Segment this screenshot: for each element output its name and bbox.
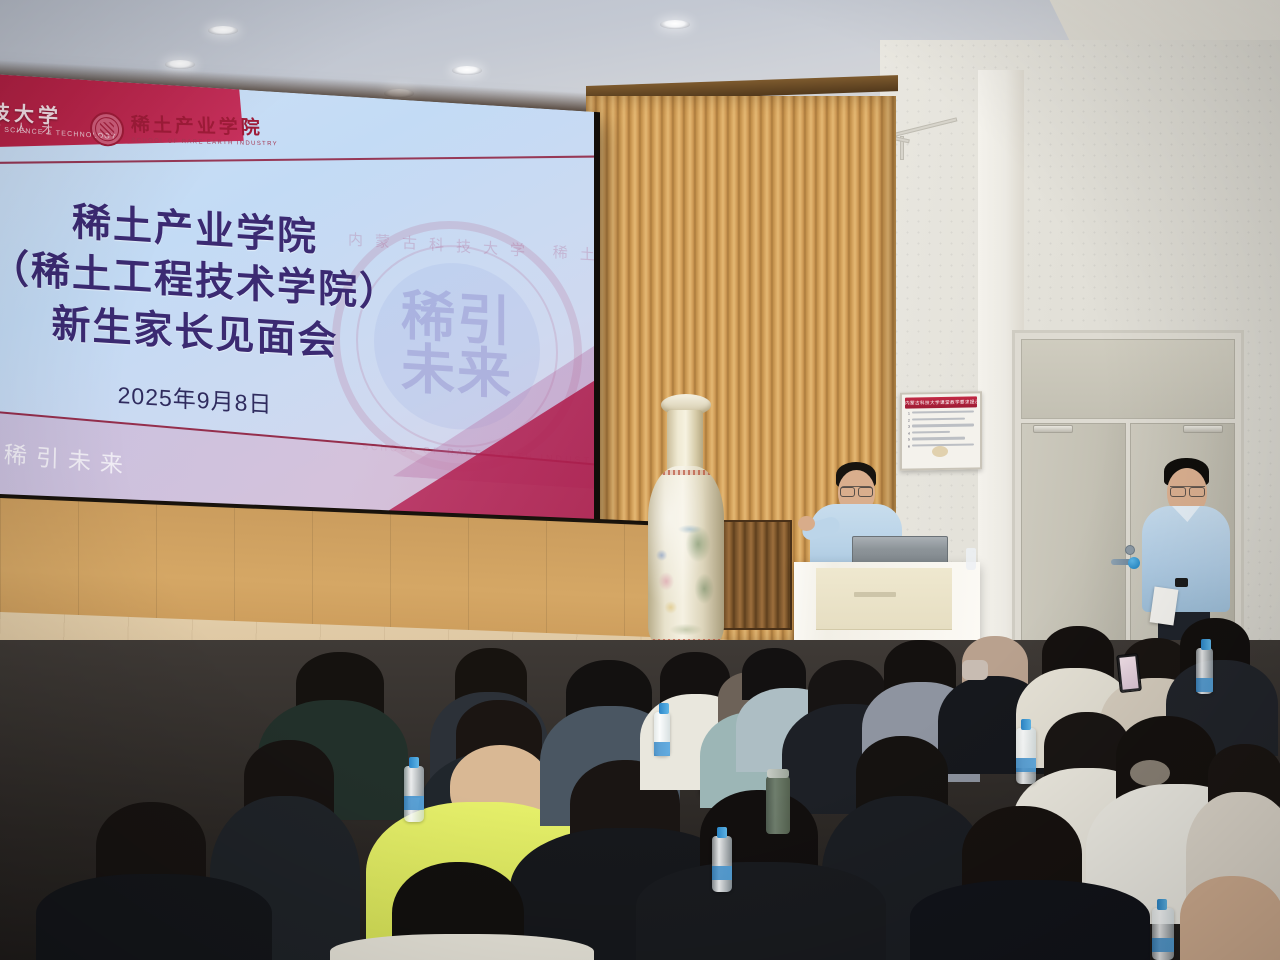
water-bottle[interactable]: [712, 836, 732, 892]
notice-item-text: [912, 410, 974, 413]
ceiling-downlight: [452, 66, 482, 75]
audience-face-mask: [962, 660, 988, 680]
ceiling-downlight: [208, 26, 238, 35]
audience-torso: [636, 862, 886, 960]
standing-staff-watch-icon: [1175, 578, 1188, 587]
audience-phone[interactable]: [1116, 653, 1142, 693]
notice-item: 5: [908, 437, 974, 442]
water-bottle[interactable]: [1196, 648, 1213, 694]
water-bottle[interactable]: [1016, 728, 1036, 784]
wall-notice-board: 内蒙古科技大学课堂教学要求提示 1 2 3 4 5 6: [900, 391, 982, 470]
notice-item-text: [912, 424, 974, 427]
school-logo-lockup: 稀土产业学院 SCHOOL OF RARE EARTH INDUSTRY: [89, 112, 278, 151]
audience-torso: [910, 880, 1150, 960]
speaker-glasses-icon: [840, 486, 873, 494]
door-transom-window: [1021, 339, 1235, 419]
door-closer-left: [1033, 425, 1073, 433]
notice-stamp: [932, 446, 948, 457]
ceiling-downlight: [660, 20, 690, 29]
decorative-vase: [640, 392, 732, 654]
watermark-seal-chars: 稀引未来: [397, 290, 517, 403]
notice-item-number: 3: [908, 425, 910, 429]
water-bottle[interactable]: [1152, 908, 1174, 960]
notice-item-number: 4: [908, 431, 910, 435]
speaker-hand: [798, 516, 815, 531]
notice-item-number: 6: [908, 445, 910, 449]
university-seal-icon: [89, 112, 124, 147]
notice-item: 1: [908, 410, 974, 415]
audience-torso: [36, 874, 272, 960]
school-name-en: SCHOOL OF RARE EARTH INDUSTRY: [131, 138, 278, 148]
notice-item: 4: [908, 430, 974, 435]
notice-item-number: 5: [908, 438, 910, 442]
standing-staff-documents: [1150, 587, 1179, 626]
slide-title-block: 稀土产业学院 （稀土工程技术学院） 新生家长见面会 2025年9月8日: [0, 190, 430, 430]
notice-item: 2: [908, 417, 974, 422]
vase-neck: [667, 410, 703, 472]
notice-item-text: [912, 437, 965, 440]
ceiling-downlight: [165, 60, 195, 69]
audience-hair-tie: [1130, 760, 1170, 786]
door-lock-icon[interactable]: [1125, 545, 1135, 555]
audience-head: [1180, 876, 1280, 960]
door-leaf-left[interactable]: [1021, 423, 1126, 653]
presentation-slide: 科技大学 专 人 才 ...ITY OF SCIENCE & TECHNOLOG…: [0, 72, 594, 545]
water-bottle[interactable]: [404, 766, 424, 822]
standing-staff-glasses-icon: [1170, 486, 1205, 494]
door-knob[interactable]: [1128, 557, 1140, 569]
vase-painting: [648, 466, 724, 652]
audience-torso: [330, 934, 594, 960]
door-closer-right: [1183, 425, 1223, 433]
water-bottle[interactable]: [654, 712, 670, 756]
vase-band-top: [648, 470, 724, 475]
vase-body: [648, 466, 724, 652]
notice-item-text: [912, 417, 965, 420]
lectern-front-panel: [816, 568, 952, 630]
lectern-nameplate: [854, 592, 896, 597]
thermos-flask[interactable]: [766, 776, 790, 834]
notice-item-text: [912, 431, 950, 434]
notice-item-number: 2: [908, 418, 910, 422]
notice-item: 3: [908, 424, 974, 429]
photo-scene: 科技大学 专 人 才 ...ITY OF SCIENCE & TECHNOLOG…: [0, 0, 1280, 960]
notice-body: 1 2 3 4 5 6: [905, 407, 977, 448]
notice-item-number: 1: [908, 412, 910, 416]
podium-water-bottle: [966, 548, 976, 570]
school-name-cn: 稀土产业学院: [131, 116, 278, 140]
slide-divider-top: [0, 155, 594, 164]
projection-screen: 科技大学 专 人 才 ...ITY OF SCIENCE & TECHNOLOG…: [0, 72, 600, 552]
